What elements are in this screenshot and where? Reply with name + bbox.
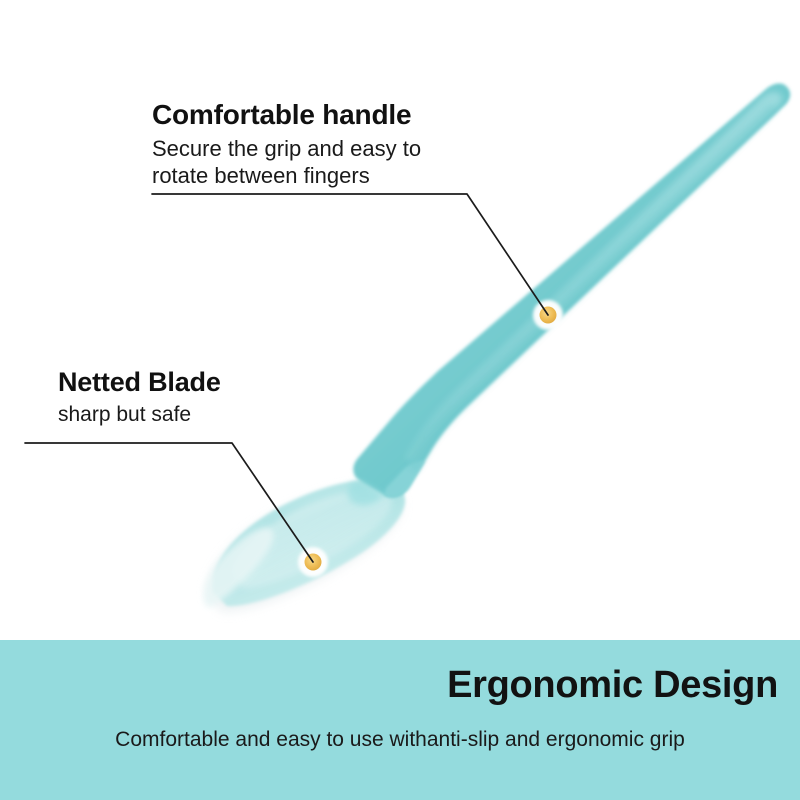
marker-dot-handle — [533, 300, 563, 330]
banner-title: Ergonomic Design — [447, 664, 778, 707]
banner-subtitle: Comfortable and easy to use withanti-sli… — [0, 728, 800, 752]
bottom-banner: Ergonomic Design Comfortable and easy to… — [0, 640, 800, 800]
product-infographic: Comfortable handle Secure the grip and e… — [0, 0, 800, 800]
callout-title-comfortable-handle: Comfortable handle — [152, 98, 421, 132]
callout-subtitle-comfortable-handle: Secure the grip and easy to rotate betwe… — [152, 135, 421, 189]
callout-title-netted-blade: Netted Blade — [58, 366, 221, 399]
callout-netted-blade: Netted Blade sharp but safe — [58, 366, 221, 428]
product-image-area: Comfortable handle Secure the grip and e… — [0, 0, 800, 640]
marker-dot-blade — [298, 547, 328, 577]
callout-subtitle-netted-blade: sharp but safe — [58, 402, 221, 428]
eyebrow-razor-illustration — [0, 0, 800, 640]
callout-comfortable-handle: Comfortable handle Secure the grip and e… — [152, 98, 421, 189]
